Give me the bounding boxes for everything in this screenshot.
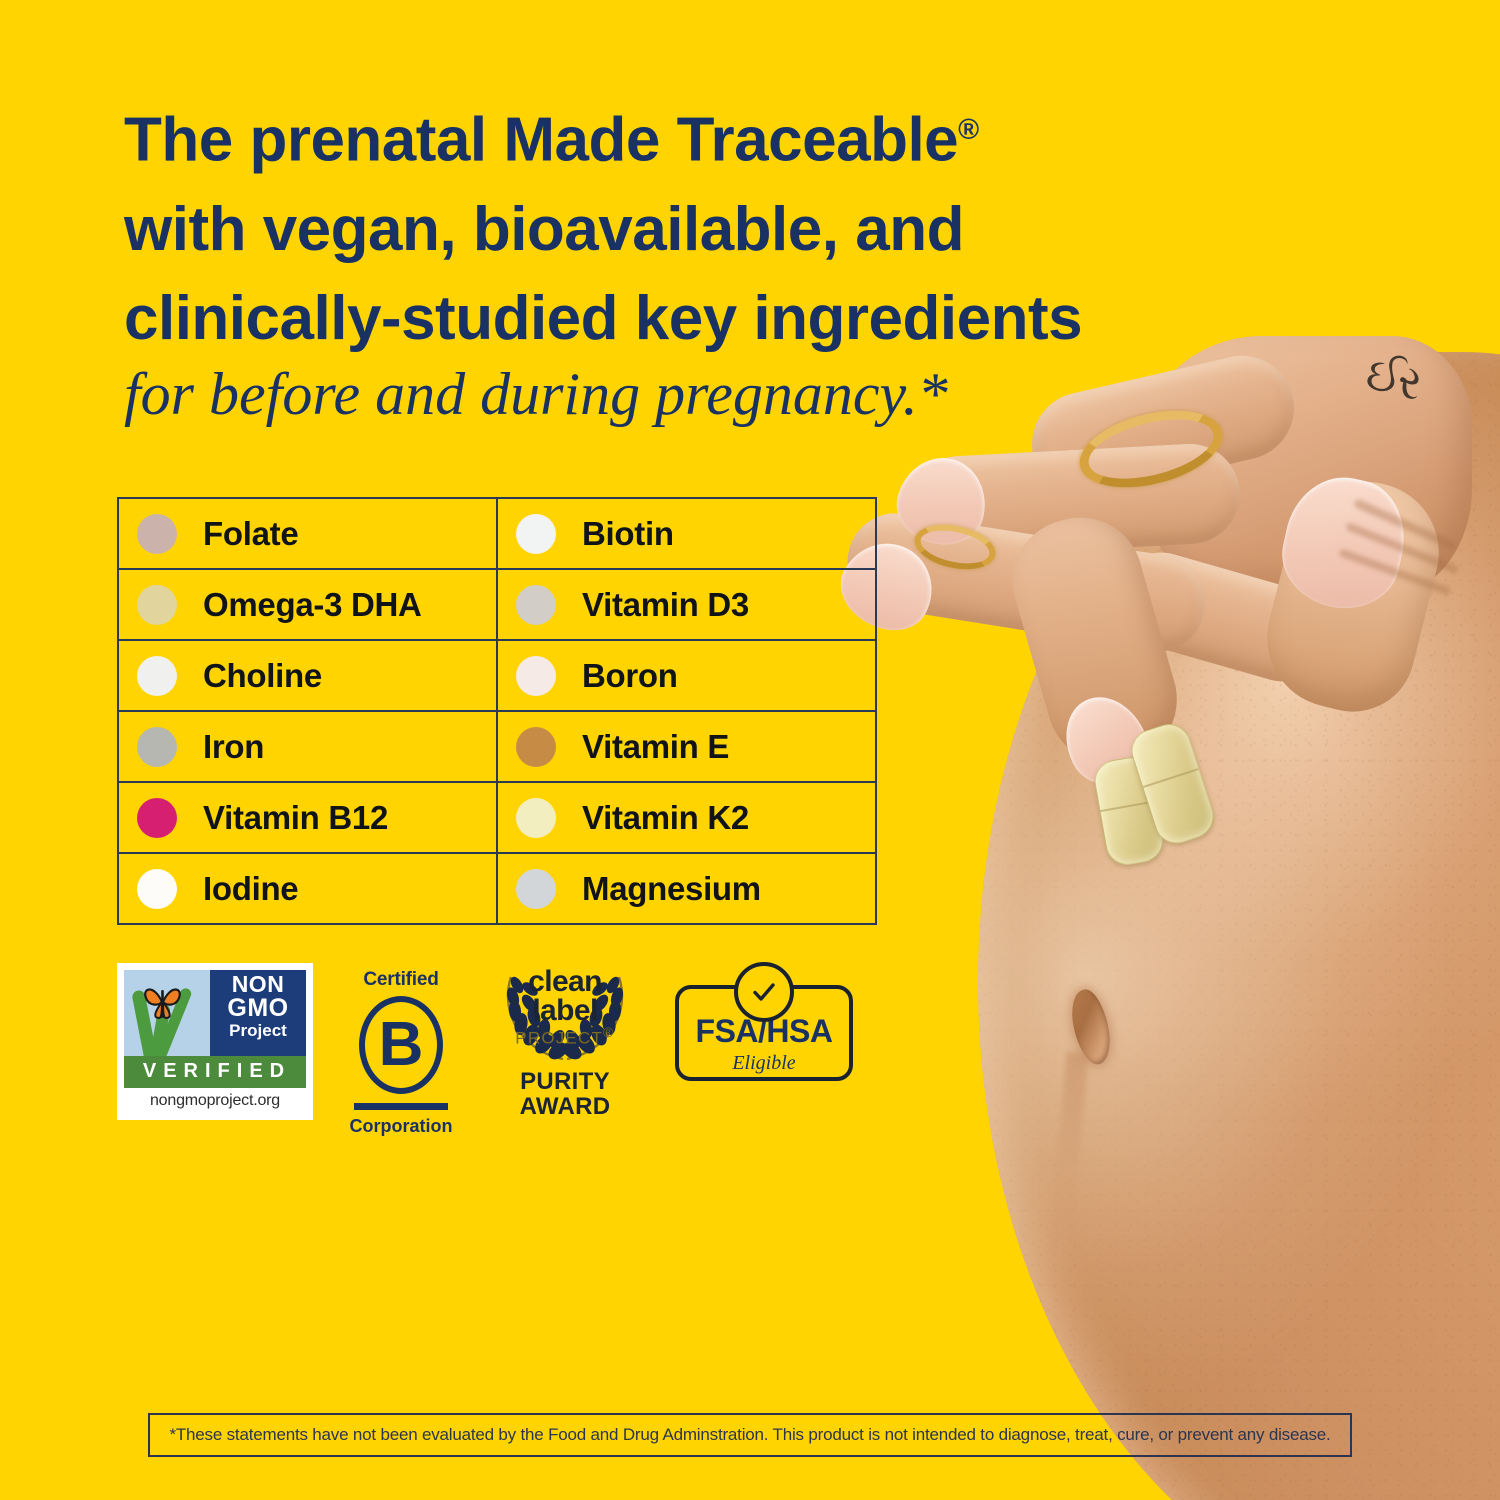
ingredient-dot-icon <box>516 798 556 838</box>
ingredient-dot-icon <box>137 798 177 838</box>
ingredient-cell-vitamin-d3: Vitamin D3 <box>497 569 876 640</box>
bcorp-divider <box>354 1103 448 1110</box>
ingredient-table: Folate Biotin Omega-3 DHA Vitamin D3 Cho… <box>117 497 877 925</box>
product-infographic: ઈર The prenatal Made Traceable® with veg… <box>0 0 1500 1500</box>
page-subtitle: for before and during pregnancy.* <box>124 358 948 430</box>
knuckle-crease <box>1353 498 1457 551</box>
ingredient-cell-omega3dha: Omega-3 DHA <box>118 569 497 640</box>
ingredient-label: Boron <box>582 657 678 695</box>
nongmo-gmo-text: GMO <box>210 996 306 1021</box>
knuckle-crease <box>1345 522 1459 574</box>
butterfly-icon <box>140 982 186 1020</box>
table-row: Vitamin B12 Vitamin K2 <box>118 782 876 853</box>
cleanlabel-project-word: PROJECT <box>515 1029 603 1048</box>
registered-trademark-icon: ® <box>603 1025 615 1041</box>
clean-label-project-purity-award-badge: clean label PROJECT® PURITY AWARD <box>489 963 641 1119</box>
ingredient-dot-icon <box>137 514 177 554</box>
ingredient-table-body: Folate Biotin Omega-3 DHA Vitamin D3 Cho… <box>118 498 876 924</box>
table-row: Iron Vitamin E <box>118 711 876 782</box>
capsule <box>1126 718 1220 849</box>
knuckle-crease <box>1338 548 1452 596</box>
ingredient-label: Biotin <box>582 515 674 553</box>
skin-texture <box>978 352 1500 1500</box>
ingredient-label: Folate <box>203 515 298 553</box>
b-corporation-badge: Certified B Corporation <box>347 963 455 1137</box>
ingredient-dot-icon <box>137 727 177 767</box>
hand: ઈર <box>880 330 1500 890</box>
ingredient-cell-choline: Choline <box>118 640 497 711</box>
ingredient-label: Iodine <box>203 870 298 908</box>
cleanlabel-purity-text: PURITY <box>489 1069 641 1094</box>
table-row: Omega-3 DHA Vitamin D3 <box>118 569 876 640</box>
capsule <box>1091 754 1167 868</box>
cleanlabel-label-text: label <box>489 996 641 1025</box>
ingredient-dot-icon <box>516 585 556 625</box>
hand-knuckles <box>1142 336 1472 598</box>
ingredient-cell-iodine: Iodine <box>118 853 497 924</box>
ingredient-dot-icon <box>516 869 556 909</box>
ingredient-dot-icon <box>137 869 177 909</box>
thumb <box>1252 465 1453 724</box>
ingredient-label: Vitamin K2 <box>582 799 749 837</box>
nongmo-url-text: nongmoproject.org <box>124 1088 306 1113</box>
pointing-finger <box>998 503 1192 779</box>
ingredient-label: Vitamin D3 <box>582 586 749 624</box>
ingredient-label: Vitamin E <box>582 728 729 766</box>
table-row: Choline Boron <box>118 640 876 711</box>
headline-line-1: The prenatal Made Traceable® <box>124 86 1224 185</box>
certification-badges: NON GMO Project VERIFIED nongmoproject.o… <box>117 963 853 1137</box>
ingredient-dot-icon <box>137 585 177 625</box>
linea-nigra <box>1049 1051 1088 1252</box>
ingredient-cell-vitamin-e: Vitamin E <box>497 711 876 782</box>
pregnant-belly <box>978 352 1500 1500</box>
hand-tattoo: ઈર <box>1361 347 1450 418</box>
cleanlabel-award-text: AWARD <box>489 1094 641 1119</box>
ingredient-label: Choline <box>203 657 322 695</box>
middle-nail <box>889 449 995 554</box>
headline-line-2: with vegan, bioavailable, and <box>124 185 1224 274</box>
ingredient-cell-boron: Boron <box>497 640 876 711</box>
pinky-finger <box>1103 542 1340 693</box>
gold-ring-secondary <box>911 518 1000 576</box>
ingredient-cell-vitamin-b12: Vitamin B12 <box>118 782 497 853</box>
ingredient-dot-icon <box>137 656 177 696</box>
middle-finger <box>908 441 1243 558</box>
ingredient-cell-magnesium: Magnesium <box>497 853 876 924</box>
belly-highlight <box>978 352 1500 1500</box>
bcorp-certified-text: Certified <box>347 969 455 991</box>
ingredient-cell-folate: Folate <box>118 498 497 569</box>
thumb-nail <box>1273 467 1415 619</box>
headline-line-1-text: The prenatal Made Traceable <box>124 106 958 175</box>
gold-ring <box>1072 397 1231 500</box>
ingredient-dot-icon <box>516 656 556 696</box>
cleanlabel-project-text: PROJECT® <box>489 1025 641 1049</box>
nongmo-verified-text: VERIFIED <box>124 1056 306 1088</box>
pointing-finger-nail <box>1051 683 1160 796</box>
ingredient-label: Iron <box>203 728 264 766</box>
index-finger <box>841 506 1212 657</box>
table-row: Folate Biotin <box>118 498 876 569</box>
cleanlabel-clean-text: clean <box>489 967 641 996</box>
butterfly-grass-illustration <box>124 970 210 1056</box>
ring-finger <box>1022 345 1305 506</box>
non-gmo-project-verified-badge: NON GMO Project VERIFIED nongmoproject.o… <box>117 963 313 1120</box>
fda-disclaimer: *These statements have not been evaluate… <box>148 1413 1352 1457</box>
fsa-hsa-eligible-badge: FSA/HSA Eligible <box>675 985 853 1081</box>
ingredient-dot-icon <box>516 727 556 767</box>
ingredient-cell-biotin: Biotin <box>497 498 876 569</box>
nongmo-non-text: NON <box>210 973 306 996</box>
ingredient-label: Magnesium <box>582 870 761 908</box>
headline-line-3: clinically-studied key ingredients <box>124 274 1224 363</box>
registered-trademark-icon: ® <box>958 114 979 146</box>
non-gmo-wordmark: NON GMO Project <box>210 970 306 1056</box>
supplement-capsules <box>1083 714 1238 867</box>
ingredient-dot-icon <box>516 514 556 554</box>
ingredient-cell-vitamin-k2: Vitamin K2 <box>497 782 876 853</box>
ingredient-label: Omega-3 DHA <box>203 586 422 624</box>
ingredient-label: Vitamin B12 <box>203 799 388 837</box>
navel <box>1066 986 1115 1067</box>
checkmark-icon <box>734 962 794 1022</box>
ingredient-cell-iron: Iron <box>118 711 497 782</box>
page-title: The prenatal Made Traceable® with vegan,… <box>124 86 1224 363</box>
fsa-hsa-eligible-text: Eligible <box>679 1052 849 1075</box>
bcorp-corporation-text: Corporation <box>347 1116 455 1137</box>
nongmo-project-text: Project <box>210 1021 306 1041</box>
bcorp-b-letter: B <box>359 996 443 1094</box>
table-row: Iodine Magnesium <box>118 853 876 924</box>
